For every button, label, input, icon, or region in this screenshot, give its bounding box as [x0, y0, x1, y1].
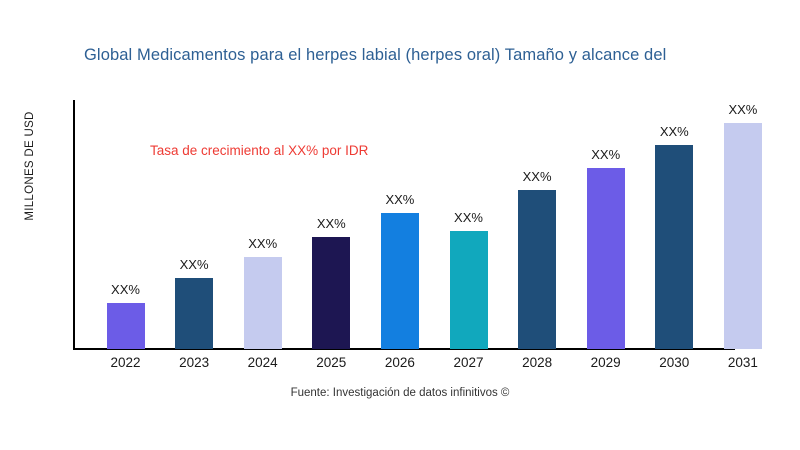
bar-2027[interactable]	[450, 231, 488, 349]
bar-2024[interactable]	[244, 257, 282, 349]
bar-value-label-2025: XX%	[291, 216, 371, 231]
plot-area: XX%2022XX%2023XX%2024XX%2025XX%2026XX%20…	[0, 0, 800, 450]
bar-value-label-2026: XX%	[360, 192, 440, 207]
bar-value-label-2031: XX%	[703, 102, 783, 117]
bar-2025[interactable]	[312, 237, 350, 349]
growth-rate-annotation: Tasa de crecimiento al XX% por IDR	[150, 143, 368, 158]
bar-2031[interactable]	[724, 123, 762, 349]
bar-value-label-2028: XX%	[497, 169, 577, 184]
bar-2030[interactable]	[655, 145, 693, 349]
bar-2026[interactable]	[381, 213, 419, 349]
x-tick-label-2031: 2031	[703, 355, 783, 370]
bar-2022[interactable]	[107, 303, 145, 349]
bar-value-label-2030: XX%	[634, 124, 714, 139]
bar-value-label-2029: XX%	[566, 147, 646, 162]
bar-chart: Global Medicamentos para el herpes labia…	[0, 0, 800, 450]
source-note: Fuente: Investigación de datos infinitiv…	[0, 387, 800, 399]
bar-value-label-2024: XX%	[223, 236, 303, 251]
bar-value-label-2023: XX%	[154, 257, 234, 272]
bar-2029[interactable]	[587, 168, 625, 349]
bar-value-label-2022: XX%	[86, 282, 166, 297]
bar-2028[interactable]	[518, 190, 556, 349]
bar-value-label-2027: XX%	[429, 210, 509, 225]
bar-2023[interactable]	[175, 278, 213, 349]
